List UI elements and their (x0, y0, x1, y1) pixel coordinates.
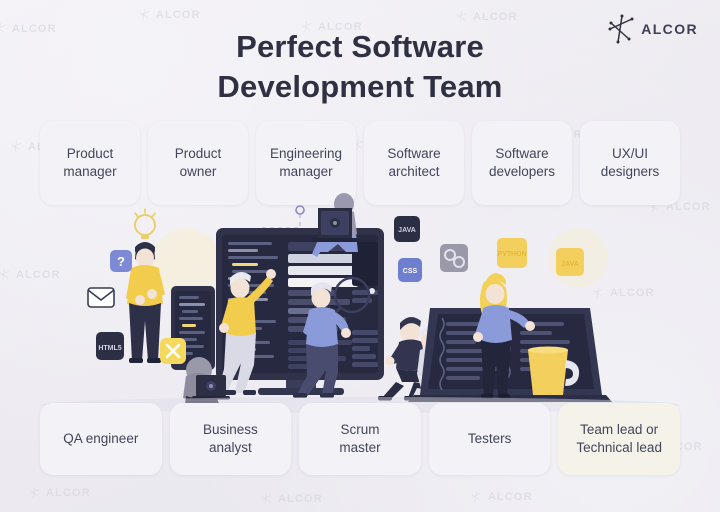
envelope-icon (88, 288, 114, 307)
role-label-line2: designers (601, 163, 660, 181)
gears-badge (440, 244, 468, 272)
role-label-line2: owner (175, 163, 222, 181)
svg-text:JAVA: JAVA (398, 227, 416, 234)
dashed-connector (262, 212, 300, 228)
watermark-text: ALCOR (473, 11, 518, 23)
role-label-line2: manager (63, 163, 116, 181)
role-label-line1: QA engineer (63, 430, 138, 448)
question-badge: ? (110, 250, 132, 272)
close-badge (160, 338, 186, 364)
svg-text:CSS: CSS (403, 268, 418, 275)
watermark: ALCOR (28, 486, 91, 499)
alcor-star-icon (455, 10, 468, 23)
watermark-text: ALCOR (46, 487, 91, 499)
alcor-star-icon (138, 8, 151, 21)
role-label-line2: developers (489, 163, 555, 181)
alcor-star-icon (28, 486, 41, 499)
watermark-text: ALCOR (488, 491, 533, 503)
connector-node (296, 206, 304, 214)
alcor-star-icon (260, 492, 273, 505)
svg-text:HTML5: HTML5 (98, 345, 121, 352)
role-label-line2: architect (387, 163, 440, 181)
role-label-line2: Technical lead (576, 439, 662, 457)
role-label-line1: Software (387, 145, 440, 163)
page-title: Perfect Software Development Team (0, 27, 720, 106)
role-label-line1: Business (203, 421, 258, 439)
person-seated-dark (378, 317, 426, 401)
infographic-root: ALCOR ALCOR ALCOR ALCOR ALCOR ALCOR ALCO… (0, 0, 720, 512)
watermark: ALCOR (455, 10, 518, 23)
roles-bottom-row: QA engineer Business analyst Scrum maste… (40, 403, 680, 475)
alcor-star-icon (470, 490, 483, 503)
role-label-line1: UX/UI (601, 145, 660, 163)
watermark-text: ALCOR (278, 493, 323, 505)
role-label-line2: manager (270, 163, 342, 181)
team-illustration: ? HTML5 (0, 190, 720, 415)
role-card-testers[interactable]: Testers (429, 403, 551, 475)
svg-text:JAVA: JAVA (561, 261, 579, 268)
role-label-line1: Software (489, 145, 555, 163)
page-title-line2: Development Team (0, 67, 720, 107)
role-label-line2: master (339, 439, 380, 457)
laptop-device (312, 208, 358, 242)
team-illustration-svg: ? HTML5 (0, 190, 720, 415)
python-badge: PYTHON (497, 238, 527, 268)
watermark-text: ALCOR (156, 9, 201, 21)
java-badge: JAVA (394, 216, 420, 242)
watermark: ALCOR (260, 492, 323, 505)
watermark: ALCOR (138, 8, 201, 21)
svg-text:PYTHON: PYTHON (497, 251, 526, 258)
role-card-business-analyst[interactable]: Business analyst (170, 403, 292, 475)
js-badge: JAVA (556, 248, 584, 276)
role-card-team-lead[interactable]: Team lead or Technical lead (558, 403, 680, 475)
role-label-line1: Engineering (270, 145, 342, 163)
lightbulb-icon (135, 209, 155, 239)
svg-text:?: ? (117, 254, 125, 269)
alcor-star-icon (10, 140, 23, 153)
role-label-line1: Product (63, 145, 116, 163)
person-yellow-sweater (126, 209, 165, 363)
role-card-qa-engineer[interactable]: QA engineer (40, 403, 162, 475)
page-title-line1: Perfect Software (0, 27, 720, 67)
html5-badge: HTML5 (96, 332, 124, 360)
role-label-line1: Scrum (339, 421, 380, 439)
css-badge: CSS (398, 258, 422, 282)
watermark: ALCOR (470, 490, 533, 503)
role-card-scrum-master[interactable]: Scrum master (299, 403, 421, 475)
role-label-line1: Product (175, 145, 222, 163)
role-label-line2: analyst (203, 439, 258, 457)
role-label-line1: Team lead or (576, 421, 662, 439)
role-label-line1: Testers (468, 430, 512, 448)
